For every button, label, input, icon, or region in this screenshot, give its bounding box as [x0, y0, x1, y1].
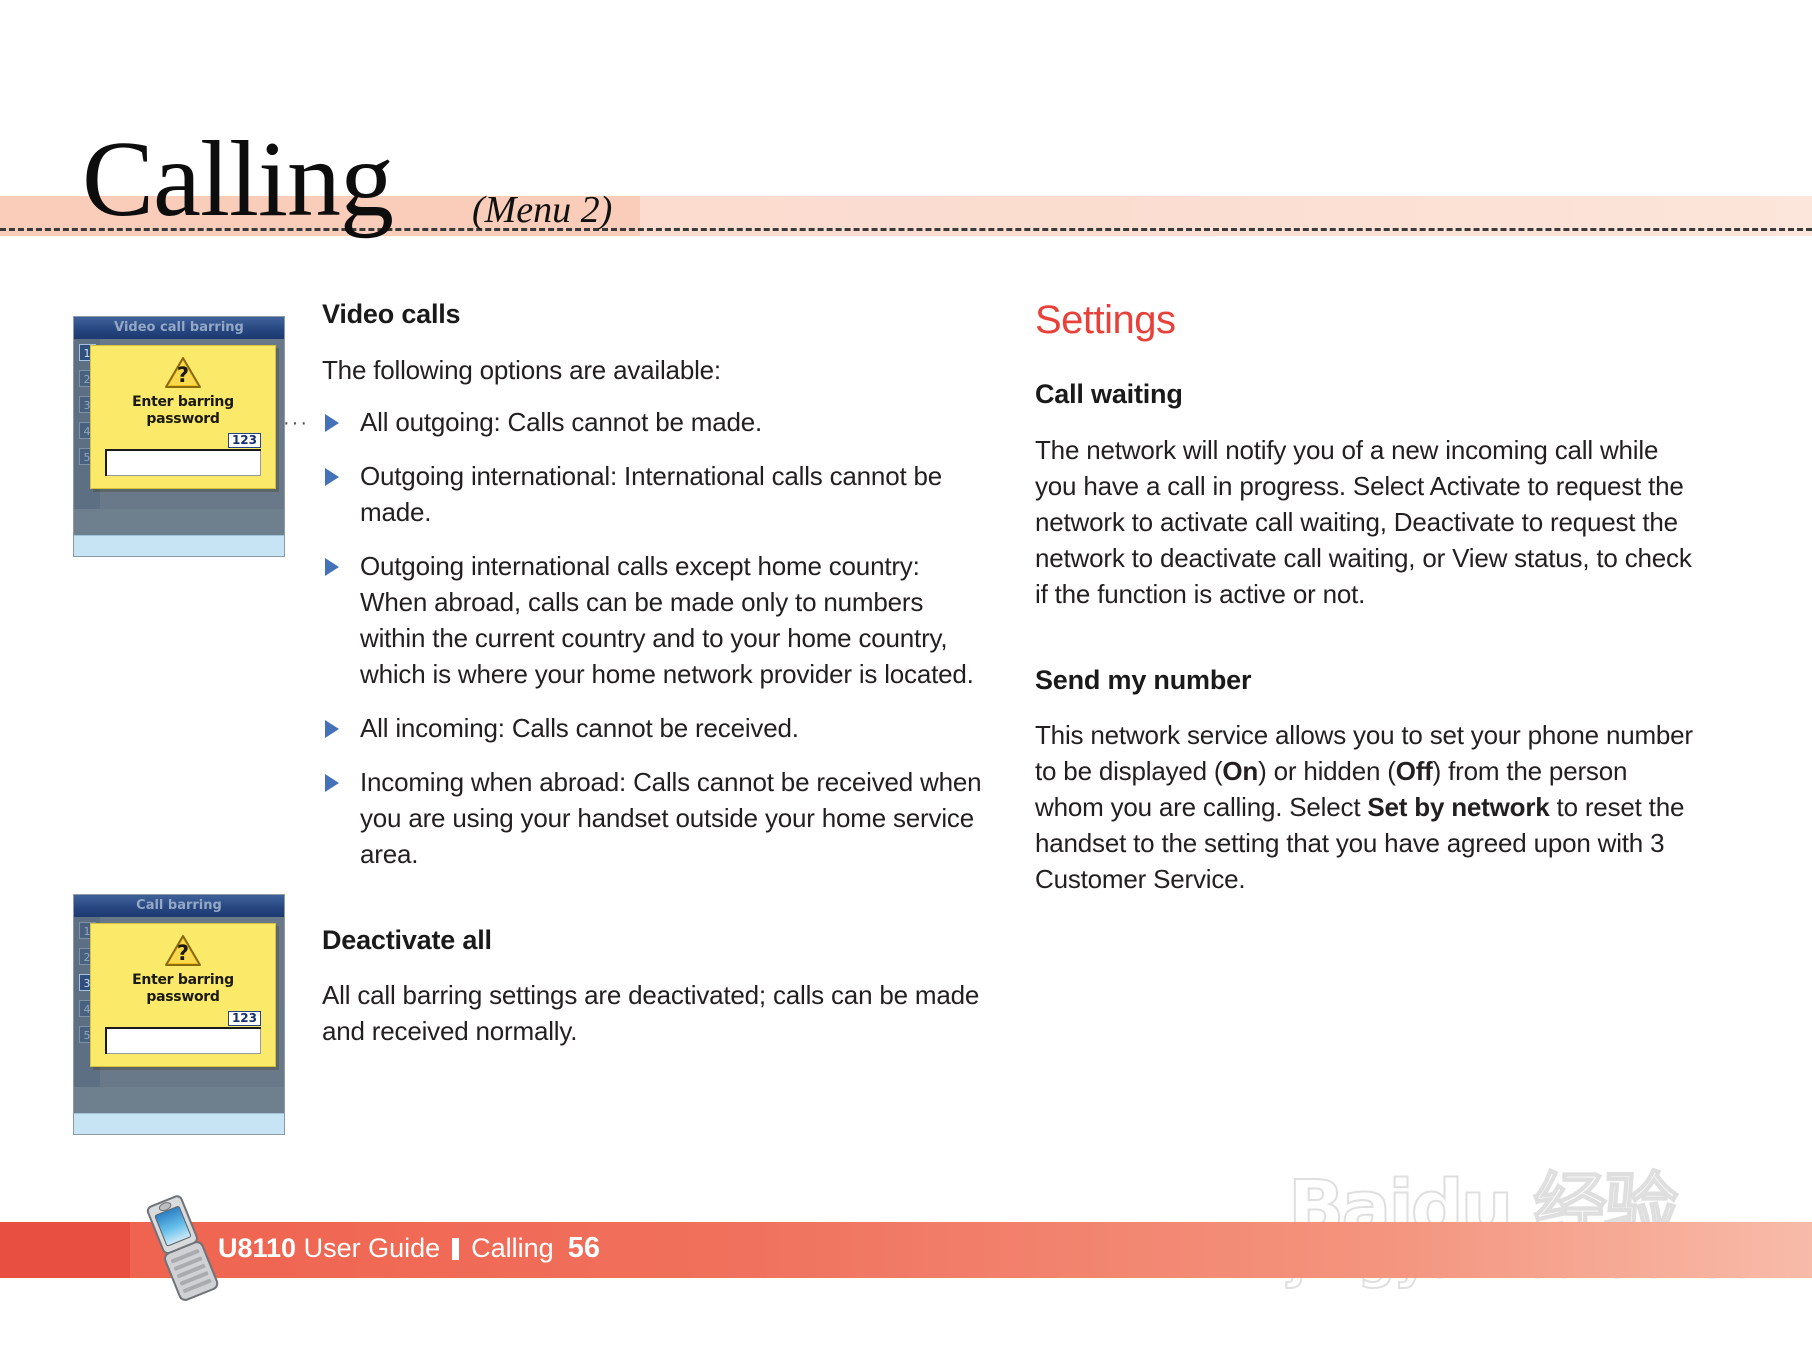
phone-bottom-bar: [74, 535, 284, 556]
list-item-text: Outgoing international calls except home…: [360, 551, 974, 689]
bullet-triangle-icon: [325, 774, 339, 792]
footer-chapter: Calling: [471, 1233, 554, 1263]
phone-screen-body: 1 2 3 4 5 ? Enter barring password 123: [74, 917, 284, 1087]
smn-bold-off: Off: [1396, 756, 1433, 786]
call-waiting-body: The network will notify you of a new inc…: [1035, 432, 1695, 612]
bullet-triangle-icon: [325, 558, 339, 576]
footer-page-number: 56: [568, 1232, 600, 1264]
password-input[interactable]: [105, 449, 261, 476]
password-dialog: ? Enter barring password 123: [90, 923, 276, 1067]
page-header: Calling (Menu 2): [0, 0, 1812, 250]
flip-phone-icon: [136, 1195, 222, 1303]
bullet-triangle-icon: [325, 468, 339, 486]
list-item: All incoming: Calls cannot be received.: [322, 710, 982, 746]
dialog-line-2: password: [91, 989, 275, 1006]
password-input[interactable]: [105, 1027, 261, 1054]
heading-video-calls: Video calls: [322, 300, 982, 330]
heading-send-my-number: Send my number: [1035, 666, 1695, 696]
footer-separator: [452, 1238, 459, 1260]
phone-screen-body: 1 2 3 4 5 ? Enter barring password 123: [74, 339, 284, 509]
smn-part-2: ) or hidden (: [1258, 756, 1396, 786]
phone-softkey-area: [74, 1087, 284, 1113]
footer-text: U8110 User GuideCalling56: [218, 1232, 600, 1265]
dialog-line-1: Enter barring: [91, 394, 275, 411]
list-item-text: All incoming: Calls cannot be received.: [360, 713, 799, 743]
page-subtitle-menu: (Menu 2): [472, 188, 612, 232]
list-item: All outgoing: Calls cannot be made.: [322, 404, 982, 440]
phone-bottom-bar: [74, 1113, 284, 1134]
footer-guide-label: User Guide: [296, 1233, 440, 1263]
smn-bold-on: On: [1222, 756, 1258, 786]
figure-video-call-barring: Video call barring 1 2 3 4 5 ? Enter bar…: [73, 316, 285, 557]
heading-call-waiting: Call waiting: [1035, 380, 1695, 410]
list-item: Outgoing international calls except home…: [322, 548, 982, 692]
right-content-column: Settings Call waiting The network will n…: [1035, 300, 1695, 923]
list-item-text: Incoming when abroad: Calls cannot be re…: [360, 767, 981, 869]
smn-bold-set-by-network: Set by network: [1367, 792, 1549, 822]
list-item: Incoming when abroad: Calls cannot be re…: [322, 764, 982, 872]
figure-leader-dots-1: ···: [283, 412, 309, 435]
dialog-line-1: Enter barring: [91, 972, 275, 989]
phone-titlebar: Call barring: [74, 895, 284, 917]
list-item-text: Outgoing international: International ca…: [360, 461, 942, 527]
deactivate-all-body: All call barring settings are deactivate…: [322, 977, 982, 1049]
dialog-line-2: password: [91, 411, 275, 428]
warning-question-icon: ?: [164, 356, 202, 390]
video-calls-options-list: All outgoing: Calls cannot be made. Outg…: [322, 404, 982, 872]
footer-red-block: [0, 1222, 140, 1278]
list-item: Outgoing international: International ca…: [322, 458, 982, 530]
password-dialog: ? Enter barring password 123: [90, 345, 276, 489]
list-item-text: All outgoing: Calls cannot be made.: [360, 407, 762, 437]
figure-call-barring: Call barring 1 2 3 4 5 ? Enter barring p…: [73, 894, 285, 1135]
bullet-triangle-icon: [325, 414, 339, 432]
send-my-number-body: This network service allows you to set y…: [1035, 717, 1695, 897]
left-content-column: Video calls The following options are av…: [322, 300, 982, 1075]
ime-mode-badge: 123: [228, 433, 261, 448]
bullet-triangle-icon: [325, 720, 339, 738]
warning-question-icon: ?: [164, 934, 202, 968]
phone-titlebar: Video call barring: [74, 317, 284, 339]
heading-deactivate-all: Deactivate all: [322, 926, 982, 956]
page-title: Calling: [82, 126, 393, 234]
svg-text:?: ?: [177, 941, 189, 965]
phone-softkey-area: [74, 509, 284, 535]
video-calls-intro: The following options are available:: [322, 352, 982, 388]
svg-text:?: ?: [177, 363, 189, 387]
ime-mode-badge: 123: [228, 1011, 261, 1026]
footer-model: U8110: [218, 1233, 296, 1263]
section-title-settings: Settings: [1035, 300, 1695, 340]
